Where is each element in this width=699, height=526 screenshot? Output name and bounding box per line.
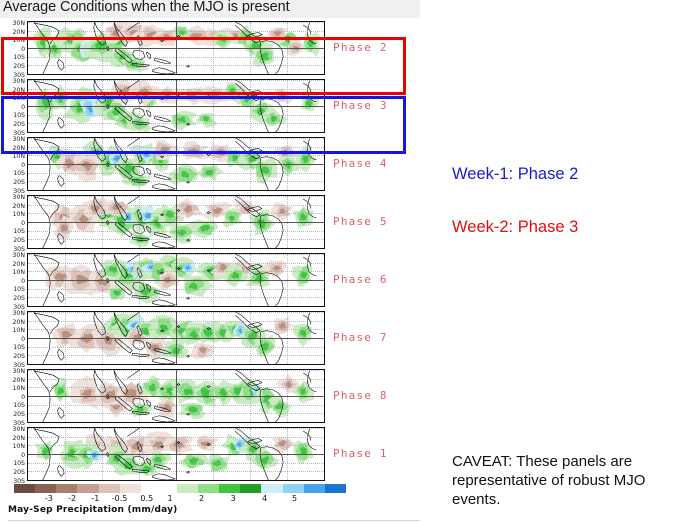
axis-tick-label: 10N [12,328,25,334]
colorbar-tick-label: -1 [91,494,99,503]
axis-tick-label: 0 [21,279,25,285]
longitude-gridline [65,370,67,422]
axis-tick-label: 30N [12,427,25,433]
colorbar-tick-labels: -3-2-1-0.50.512345 [14,494,346,504]
longitude-gridline [65,312,67,364]
longitude-gridline [102,428,104,480]
longitude-gridline [287,80,289,132]
axis-tick-label: 10S [13,345,25,351]
colorbar-swatch [240,484,261,493]
phase-label-6: Phase 6 [333,273,388,286]
axis-tick-label: 0 [21,163,25,169]
colorbar-swatch [304,484,325,493]
colorbar-tick-label: -3 [45,494,53,503]
map-panel-phase-6 [27,253,325,307]
axis-tick-label: 20N [12,436,25,442]
axis-tick-label: 10S [13,113,25,119]
latitude-axis-labels: 30N20N10N010S20S30S [0,309,26,367]
map-panel-phase-3 [27,79,325,133]
latitude-gridline [28,74,324,75]
phase-panel-3: 30N20N10N010S20S30SPhase 3 [0,77,420,135]
phase-label-5: Phase 5 [333,215,388,228]
longitude-gridline [139,80,141,132]
central-meridian [176,138,177,190]
longitude-gridline [250,254,252,306]
longitude-gridline [139,22,141,74]
central-meridian [176,370,177,422]
axis-tick-label: 10N [12,212,25,218]
axis-tick-label: 20N [12,146,25,152]
axis-tick-label: 20S [13,64,25,70]
central-meridian [176,22,177,74]
colorbar-swatch [99,484,120,493]
map-panel-phase-4 [27,137,325,191]
longitude-gridline [250,22,252,74]
axis-tick-label: 0 [21,221,25,227]
axis-tick-label: 10N [12,96,25,102]
longitude-gridline [287,254,289,306]
longitude-gridline [139,370,141,422]
phase-label-4: Phase 4 [333,157,388,170]
longitude-gridline [213,138,215,190]
latitude-axis-labels: 30N20N10N010S20S30S [0,19,26,77]
colorbar-tick-label: -0.5 [112,494,128,503]
colorbar-swatch [14,484,35,493]
axis-tick-label: 30N [12,369,25,375]
longitude-gridline [250,138,252,190]
phase-label-2: Phase 2 [333,41,388,54]
longitude-gridline [65,22,67,74]
central-meridian [176,196,177,248]
central-meridian [176,80,177,132]
longitude-gridline [287,428,289,480]
phase-panel-5: 30N20N10N010S20S30SPhase 5 [0,193,420,251]
latitude-gridline [28,248,324,249]
colorbar-legend: -3-2-1-0.50.512345 May-Sep Precipitation… [0,484,420,526]
longitude-gridline [139,254,141,306]
longitude-gridline [139,428,141,480]
colorbar-swatch [283,484,304,493]
phase-panel-1: 30N20N10N010S20S30SPhase 1 [0,425,420,483]
map-panel-phase-5 [27,195,325,249]
longitude-gridline [213,196,215,248]
axis-tick-label: 20S [13,296,25,302]
longitude-gridline [250,312,252,364]
longitude-gridline [102,138,104,190]
axis-tick-label: 20N [12,30,25,36]
axis-tick-label: 10S [13,229,25,235]
colorbar-swatch [35,484,56,493]
longitude-gridline [213,80,215,132]
latitude-gridline [28,364,324,365]
week2-forecast-note: Week-2: Phase 3 [452,218,578,237]
map-panel-phase-1 [27,427,325,481]
phase-panel-8: 30N20N10N010S20S30SPhase 8 [0,367,420,425]
axis-tick-label: 20N [12,88,25,94]
axis-tick-label: 20S [13,122,25,128]
longitude-gridline [139,312,141,364]
axis-tick-label: 10S [13,171,25,177]
axis-tick-label: 30N [12,137,25,143]
phase-panel-7: 30N20N10N010S20S30SPhase 7 [0,309,420,367]
axis-tick-label: 10N [12,270,25,276]
axis-tick-label: 0 [21,105,25,111]
axis-tick-label: 0 [21,337,25,343]
longitude-gridline [102,254,104,306]
colorbar-caption: May-Sep Precipitation (mm/day) [8,505,177,515]
axis-tick-label: 10S [13,287,25,293]
longitude-gridline [102,312,104,364]
colorbar-swatch [77,484,98,493]
colorbar-tick-label: 5 [292,494,297,503]
caveat-text: CAVEAT: These panels are representative … [452,452,684,510]
longitude-gridline [250,428,252,480]
longitude-gridline [102,22,104,74]
phase-label-7: Phase 7 [333,331,388,344]
colorbar-tick-label: 4 [262,494,267,503]
colorbar-tick-label: 3 [231,494,236,503]
latitude-axis-labels: 30N20N10N010S20S30S [0,251,26,309]
axis-tick-label: 10N [12,386,25,392]
axis-tick-label: 10S [13,403,25,409]
axis-tick-label: 20N [12,204,25,210]
axis-tick-label: 30N [12,21,25,27]
longitude-gridline [213,22,215,74]
colorbar-tick-label: -2 [68,494,76,503]
axis-tick-label: 10N [12,154,25,160]
longitude-gridline [65,196,67,248]
axis-tick-label: 20N [12,378,25,384]
central-meridian [176,312,177,364]
axis-tick-label: 10S [13,55,25,61]
phase-label-1: Phase 1 [333,447,388,460]
horizontal-divider [8,520,420,521]
axis-tick-label: 30N [12,195,25,201]
colorbar-swatch [141,484,177,493]
mjo-phase-composite-figure: 30N20N10N010S20S30SPhase 230N20N10N010S2… [0,18,420,505]
colorbar-swatch [198,484,219,493]
axis-tick-label: 20S [13,354,25,360]
longitude-gridline [102,370,104,422]
latitude-gridline [28,190,324,191]
week1-forecast-note: Week-1: Phase 2 [452,165,578,184]
axis-tick-label: 0 [21,47,25,53]
axis-tick-label: 30N [12,311,25,317]
latitude-axis-labels: 30N20N10N010S20S30S [0,193,26,251]
colorbar-swatch [120,484,141,493]
colorbar-swatch [325,484,346,493]
phase-panel-6: 30N20N10N010S20S30SPhase 6 [0,251,420,309]
colorbar-tick-label: 1 [167,494,172,503]
phase-label-3: Phase 3 [333,99,388,112]
phase-label-8: Phase 8 [333,389,388,402]
latitude-axis-labels: 30N20N10N010S20S30S [0,425,26,483]
central-meridian [176,428,177,480]
latitude-gridline [28,132,324,133]
map-panel-phase-7 [27,311,325,365]
latitude-gridline [28,480,324,481]
colorbar-swatch [177,484,198,493]
latitude-axis-labels: 30N20N10N010S20S30S [0,367,26,425]
longitude-gridline [213,428,215,480]
axis-tick-label: 20S [13,180,25,186]
axis-tick-label: 20N [12,320,25,326]
latitude-gridline [28,306,324,307]
longitude-gridline [213,254,215,306]
longitude-gridline [250,370,252,422]
longitude-gridline [250,196,252,248]
slide-canvas: Average Conditions when the MJO is prese… [0,0,699,523]
axis-tick-label: 10S [13,461,25,467]
longitude-gridline [287,370,289,422]
longitude-gridline [287,196,289,248]
colorbar-swatch [56,484,77,493]
colorbar-tick-label: 2 [199,494,204,503]
axis-tick-label: 20S [13,470,25,476]
longitude-gridline [213,370,215,422]
axis-tick-label: 0 [21,395,25,401]
phase-panel-2: 30N20N10N010S20S30SPhase 2 [0,19,420,77]
map-panel-phase-2 [27,21,325,75]
page-title: Average Conditions when the MJO is prese… [3,0,290,15]
longitude-gridline [65,428,67,480]
longitude-gridline [102,196,104,248]
axis-tick-label: 30N [12,253,25,259]
longitude-gridline [213,312,215,364]
central-meridian [176,254,177,306]
latitude-axis-labels: 30N20N10N010S20S30S [0,77,26,135]
latitude-gridline [28,422,324,423]
colorbar-swatches [14,484,346,493]
longitude-gridline [102,80,104,132]
axis-tick-label: 10N [12,444,25,450]
latitude-axis-labels: 30N20N10N010S20S30S [0,135,26,193]
colorbar-swatch [261,484,282,493]
phase-panel-4: 30N20N10N010S20S30SPhase 4 [0,135,420,193]
longitude-gridline [287,22,289,74]
longitude-gridline [287,138,289,190]
axis-tick-label: 0 [21,453,25,459]
longitude-gridline [65,254,67,306]
longitude-gridline [65,138,67,190]
axis-tick-label: 20S [13,412,25,418]
axis-tick-label: 20S [13,238,25,244]
longitude-gridline [287,312,289,364]
longitude-gridline [65,80,67,132]
colorbar-swatch [219,484,240,493]
longitude-gridline [139,196,141,248]
axis-tick-label: 20N [12,262,25,268]
map-panel-phase-8 [27,369,325,423]
colorbar-tick-label: 0.5 [140,494,153,503]
axis-tick-label: 10N [12,38,25,44]
longitude-gridline [139,138,141,190]
longitude-gridline [250,80,252,132]
axis-tick-label: 30N [12,79,25,85]
